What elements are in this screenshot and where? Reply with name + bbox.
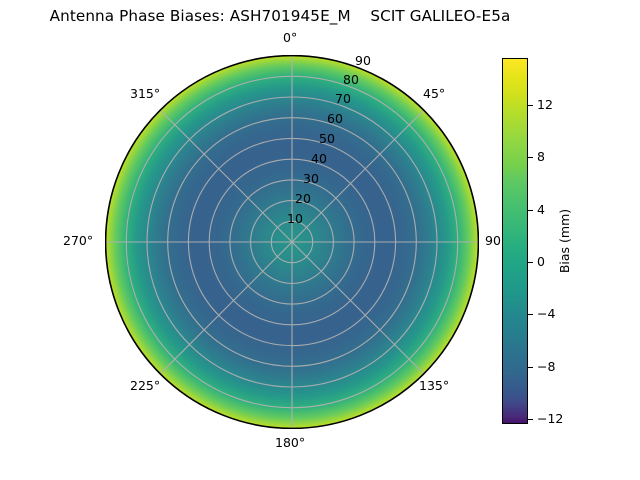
radial-tick-30: 30 <box>303 173 319 186</box>
colorbar-axis-label: Bias (mm) <box>559 209 572 273</box>
radial-tick-50: 50 <box>319 133 335 146</box>
radial-tick-70: 70 <box>335 93 351 106</box>
radial-tick-40: 40 <box>311 153 327 166</box>
polar-axes: 10 20 30 40 50 60 70 80 90 <box>105 55 479 429</box>
colorbar-ticklabel-12: 12 <box>537 99 553 112</box>
figure-canvas: Antenna Phase Biases: ASH701945E_M SCIT … <box>0 0 640 480</box>
polar-grid <box>106 56 479 429</box>
colorbar-tick-m12 <box>528 419 533 420</box>
angular-tick-45: 45° <box>423 88 445 101</box>
colorbar-tick-m8 <box>528 367 533 368</box>
colorbar-tick-12 <box>528 105 533 106</box>
colorbar: 12 8 4 0 −4 −8 −12 <box>502 58 528 424</box>
colorbar-ticklabel-m12: −12 <box>537 413 563 426</box>
angular-tick-225: 225° <box>130 380 160 393</box>
chart-title: Antenna Phase Biases: ASH701945E_M SCIT … <box>0 7 560 25</box>
angular-tick-270: 270° <box>63 235 93 248</box>
colorbar-tick-m4 <box>528 314 533 315</box>
colorbar-ticklabel-m4: −4 <box>537 308 555 321</box>
colorbar-ticklabel-0: 0 <box>537 256 545 269</box>
radial-tick-90: 90 <box>355 55 371 68</box>
colorbar-gradient <box>502 58 528 424</box>
colorbar-ticklabel-4: 4 <box>537 204 545 217</box>
radial-tick-20: 20 <box>295 193 311 206</box>
colorbar-tick-0 <box>528 262 533 263</box>
colorbar-ticklabel-m8: −8 <box>537 361 555 374</box>
radial-tick-80: 80 <box>343 74 359 87</box>
angular-tick-315: 315° <box>130 88 160 101</box>
radial-tick-60: 60 <box>327 113 343 126</box>
colorbar-ticklabel-8: 8 <box>537 151 545 164</box>
angular-tick-135: 135° <box>419 380 449 393</box>
colorbar-tick-8 <box>528 157 533 158</box>
angular-tick-180: 180° <box>275 437 305 450</box>
angular-tick-0: 0° <box>283 32 297 45</box>
polar-plot-svg <box>105 55 479 429</box>
radial-tick-10: 10 <box>287 213 303 226</box>
angular-tick-90: 90 <box>485 235 501 248</box>
colorbar-tick-4 <box>528 210 533 211</box>
